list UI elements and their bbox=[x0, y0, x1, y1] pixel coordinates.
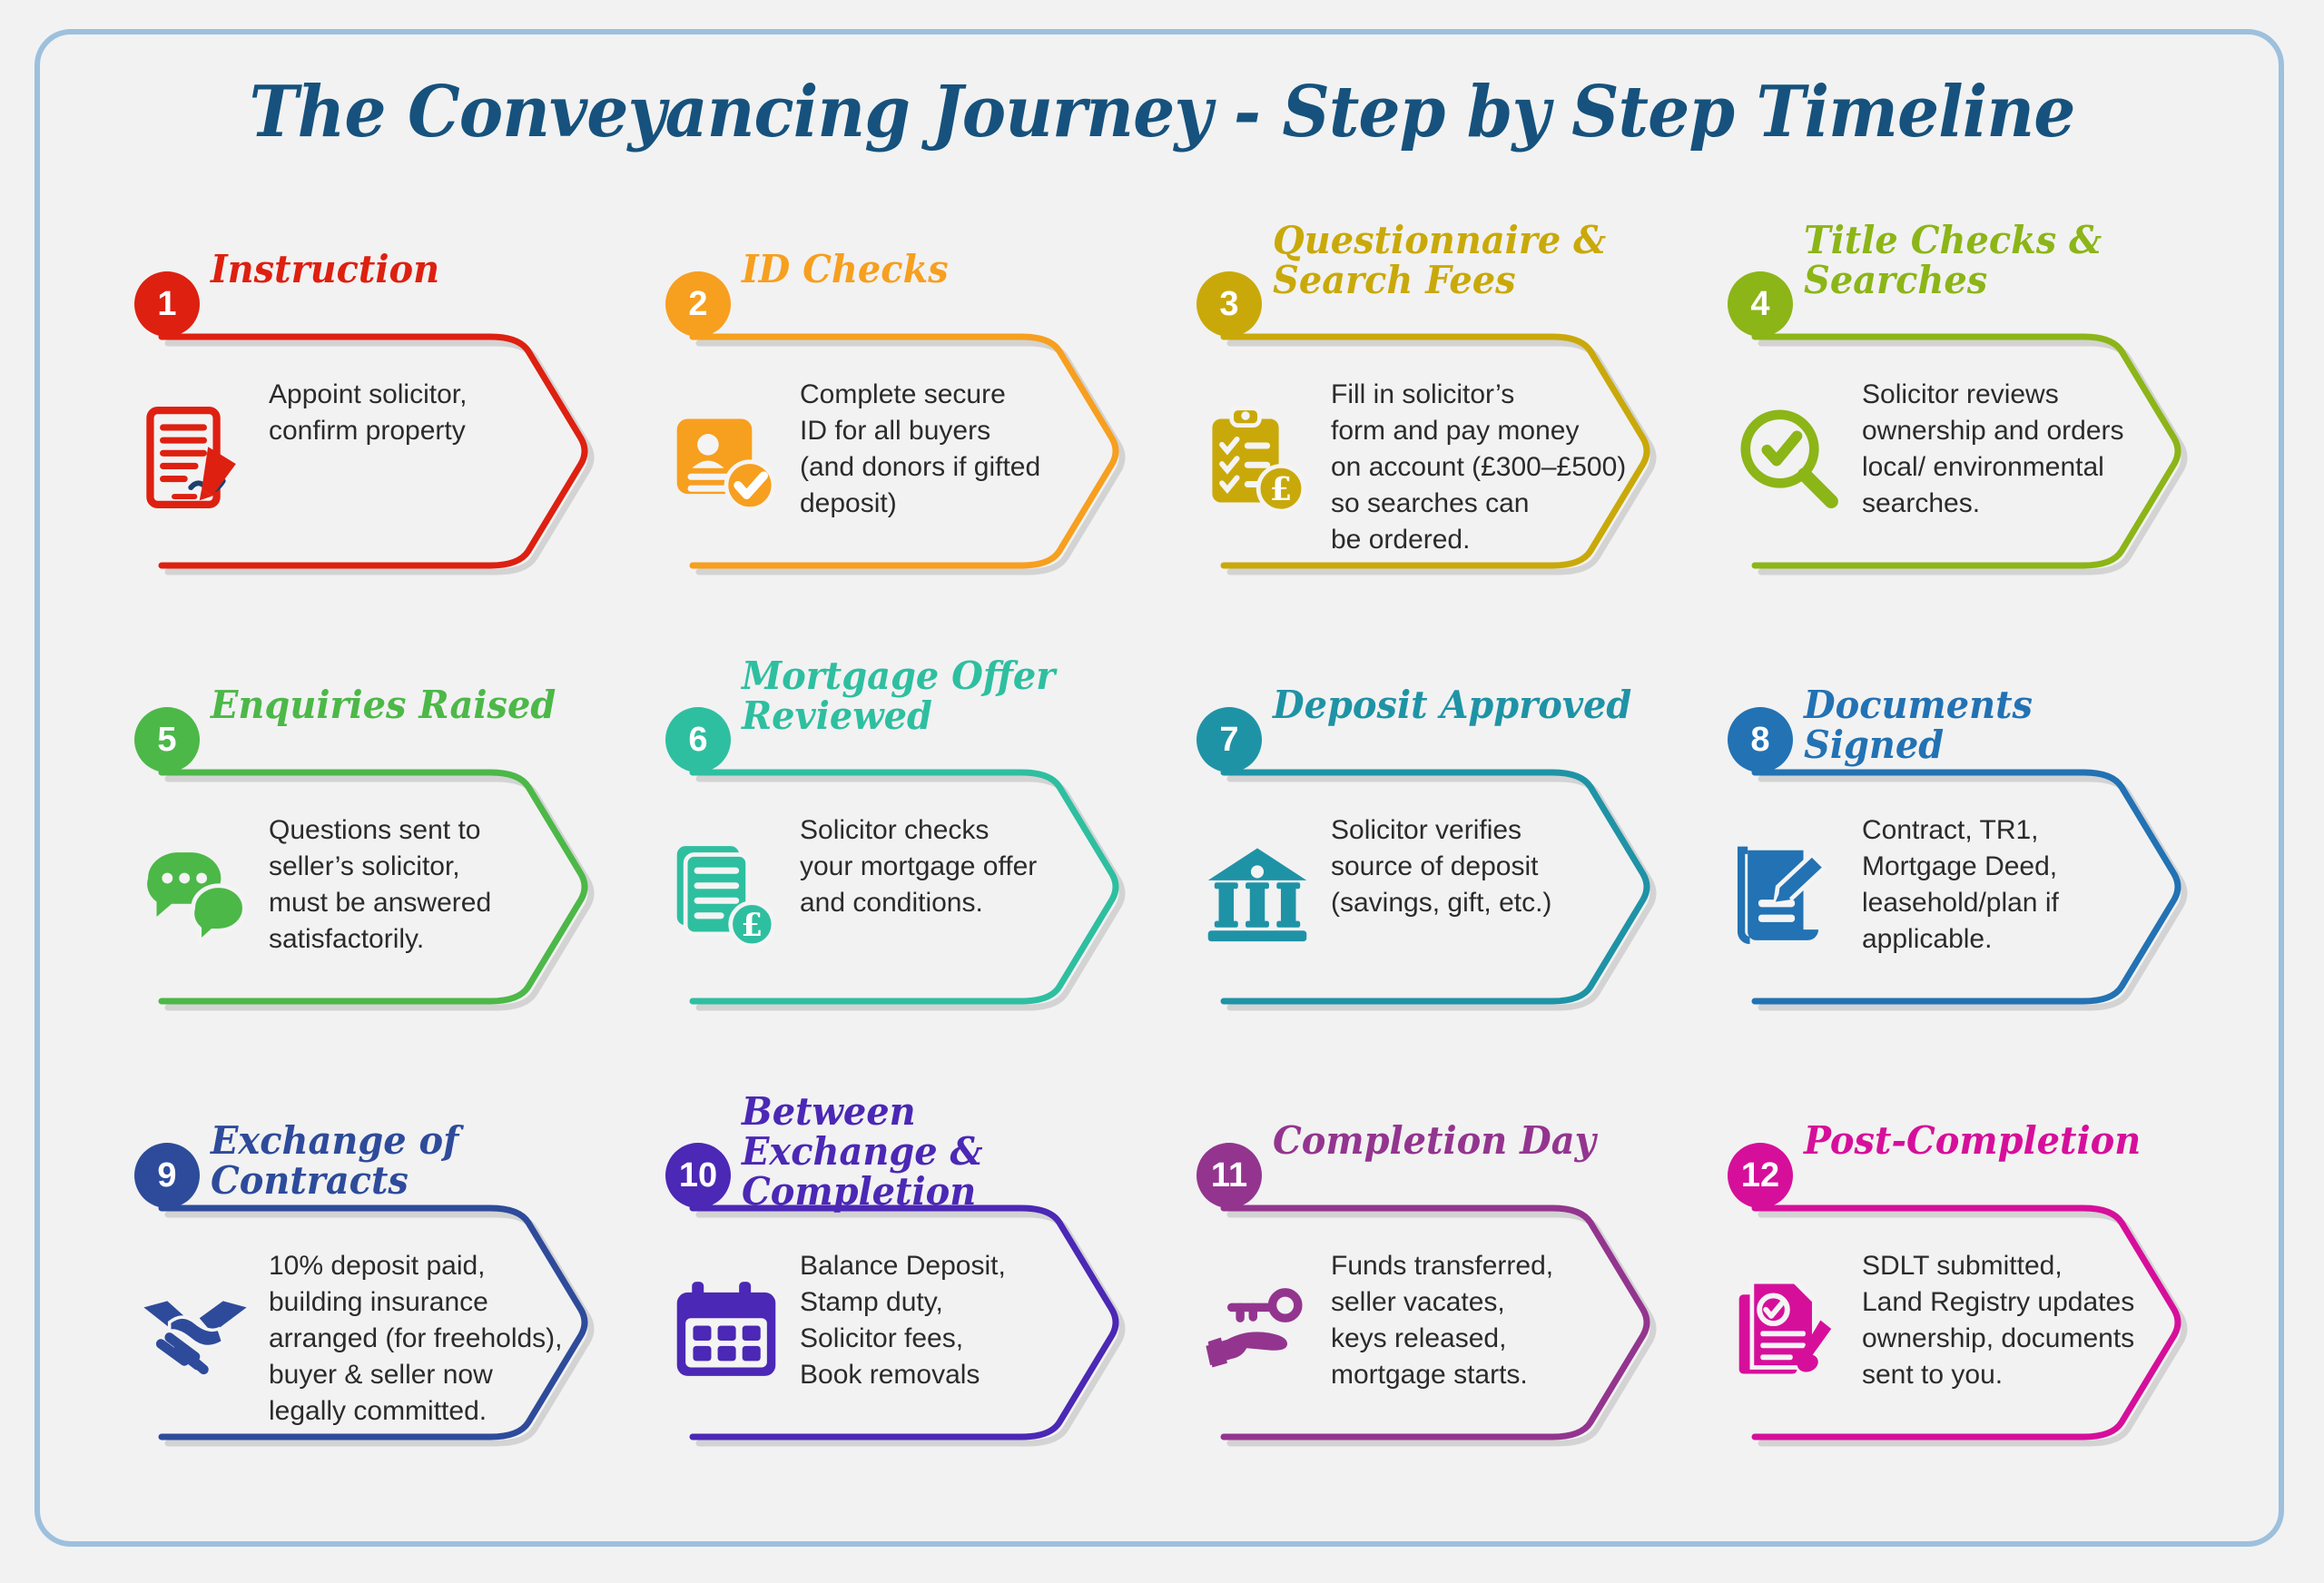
step-number-badge: 9 bbox=[134, 1143, 200, 1208]
certified-document-icon bbox=[1735, 1275, 1842, 1382]
step-number-badge: 7 bbox=[1196, 707, 1262, 772]
signed-document-icon bbox=[142, 404, 249, 511]
step-heading: Deposit Approved bbox=[1273, 685, 1652, 725]
hand-key-icon bbox=[1204, 1275, 1311, 1382]
step-number-badge: 11 bbox=[1196, 1143, 1262, 1208]
step-card: 2ID Checks Complete secure ID for all bu… bbox=[640, 250, 1171, 685]
step-description: 10% deposit paid, building insurance arr… bbox=[269, 1248, 606, 1430]
chat-bubbles-icon bbox=[142, 840, 249, 947]
step-card: 10Between Exchange & Completion Balance … bbox=[640, 1121, 1171, 1557]
step-heading: Post-Completion bbox=[1804, 1121, 2183, 1161]
handshake-icon bbox=[142, 1275, 249, 1382]
step-card: 12Post-Completion SDLT submitted, Land R… bbox=[1702, 1121, 2233, 1557]
step-number-badge: 5 bbox=[134, 707, 200, 772]
step-heading: Mortgage Offer Reviewed bbox=[742, 656, 1121, 736]
step-description: Funds transferred, seller vacates, keys … bbox=[1331, 1248, 1649, 1393]
step-number-badge: 3 bbox=[1196, 271, 1262, 337]
step-card: 8Documents Signed Contract, TR1, Mortgag… bbox=[1702, 685, 2233, 1121]
step-heading: Enquiries Raised bbox=[211, 685, 590, 725]
step-description: Appoint solicitor, confirm property bbox=[269, 377, 586, 449]
step-heading: Exchange of Contracts bbox=[211, 1121, 590, 1201]
step-card: 5Enquiries Raised Questions sent to sell… bbox=[109, 685, 640, 1121]
document-pound-icon: £ bbox=[673, 840, 780, 947]
step-number-badge: 10 bbox=[665, 1143, 731, 1208]
step-card: 7Deposit Approved Solicitor verifies sou… bbox=[1171, 685, 1702, 1121]
step-description: Solicitor verifies source of deposit (sa… bbox=[1331, 812, 1649, 921]
step-description: Solicitor checks your mortgage offer and… bbox=[800, 812, 1118, 921]
step-number-badge: 4 bbox=[1728, 271, 1793, 337]
svg-text:£: £ bbox=[1270, 471, 1293, 508]
step-description: Questions sent to seller’s solicitor, mu… bbox=[269, 812, 586, 958]
step-description: Contract, TR1, Mortgage Deed, leasehold/… bbox=[1862, 812, 2180, 958]
step-description: Balance Deposit, Stamp duty, Solicitor f… bbox=[800, 1248, 1118, 1393]
step-card: 3Questionnaire & Search Fees £ Fill in s… bbox=[1171, 250, 1702, 685]
step-heading: Instruction bbox=[211, 250, 590, 290]
magnifier-check-icon bbox=[1735, 404, 1842, 511]
step-description: Complete secure ID for all buyers (and d… bbox=[800, 377, 1118, 522]
bank-icon bbox=[1204, 840, 1311, 947]
page-title: The Conveyancing Journey - Step by Step … bbox=[82, 71, 2243, 153]
clipboard-pound-icon: £ bbox=[1204, 404, 1311, 511]
step-number-badge: 12 bbox=[1728, 1143, 1793, 1208]
steps-grid: 1Instruction Appoint solicitor, confirm … bbox=[109, 250, 2233, 1557]
step-number-badge: 1 bbox=[134, 271, 200, 337]
step-description: Fill in solicitor’s form and pay money o… bbox=[1331, 377, 1649, 558]
step-heading: Between Exchange & Completion bbox=[742, 1092, 1121, 1212]
document-pen-icon bbox=[1735, 840, 1842, 947]
svg-text:£: £ bbox=[741, 908, 763, 944]
step-number-badge: 6 bbox=[665, 707, 731, 772]
step-card: 1Instruction Appoint solicitor, confirm … bbox=[109, 250, 640, 685]
step-card: 6Mortgage Offer Reviewed £ Solicitor che… bbox=[640, 685, 1171, 1121]
step-heading: Title Checks & Searches bbox=[1804, 221, 2183, 300]
step-heading: Completion Day bbox=[1273, 1121, 1652, 1161]
step-heading: Questionnaire & Search Fees bbox=[1273, 221, 1652, 300]
step-description: Solicitor reviews ownership and orders l… bbox=[1862, 377, 2180, 522]
step-heading: Documents Signed bbox=[1804, 685, 2183, 765]
step-description: SDLT submitted, Land Registry updates ow… bbox=[1862, 1248, 2180, 1393]
id-card-check-icon bbox=[673, 404, 780, 511]
step-card: 9Exchange of Contracts 10% deposit paid,… bbox=[109, 1121, 640, 1557]
step-heading: ID Checks bbox=[742, 250, 1121, 290]
step-number-badge: 2 bbox=[665, 271, 731, 337]
step-number-badge: 8 bbox=[1728, 707, 1793, 772]
step-card: 11Completion Day Funds transferred, sell… bbox=[1171, 1121, 1702, 1557]
step-card: 4Title Checks & Searches Solicitor revie… bbox=[1702, 250, 2233, 685]
calendar-icon bbox=[673, 1275, 780, 1382]
